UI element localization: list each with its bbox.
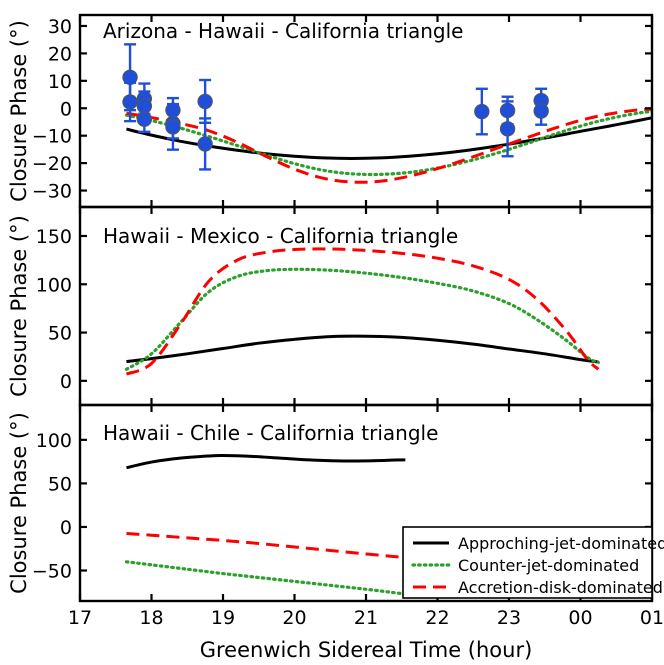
x-tick-label: 17 bbox=[68, 607, 92, 629]
y-tick-label: −50 bbox=[32, 561, 72, 583]
panel-title-2: Hawaii - Mexico - California triangle bbox=[103, 224, 458, 248]
x-tick-label: 01 bbox=[640, 607, 664, 629]
y-tick-label: 0 bbox=[60, 517, 72, 539]
y-tick-label: −20 bbox=[32, 153, 72, 175]
y-tick-label: −30 bbox=[32, 181, 72, 203]
legend-label: Accretion-disk-dominated bbox=[458, 578, 663, 597]
x-tick-label: 23 bbox=[497, 607, 521, 629]
x-tick-label: 20 bbox=[282, 607, 306, 629]
x-tick-label: 00 bbox=[568, 607, 592, 629]
y-axis-title-panel-3: Closure Phase (°) bbox=[7, 412, 31, 594]
figure-canvas: Closure Phase (°) Closure Phase (°) Clos… bbox=[0, 0, 664, 665]
x-tick-label: 18 bbox=[139, 607, 163, 629]
y-tick-label: 100 bbox=[36, 430, 72, 452]
x-axis-title: Greenwich Sidereal Time (hour) bbox=[200, 638, 533, 662]
panel-title-1: Arizona - Hawaii - California triangle bbox=[103, 19, 463, 43]
closure-phase-figure: Closure Phase (°) Closure Phase (°) Clos… bbox=[0, 0, 664, 665]
y-tick-label: 50 bbox=[48, 323, 72, 345]
y-tick-label: 30 bbox=[48, 16, 72, 38]
y-tick-label: −10 bbox=[32, 126, 72, 148]
y-tick-label: 100 bbox=[36, 274, 72, 296]
y-tick-label: 0 bbox=[60, 98, 72, 120]
y-tick-label: 150 bbox=[36, 226, 72, 248]
y-tick-label: 50 bbox=[48, 473, 72, 495]
x-tick-label: 21 bbox=[354, 607, 378, 629]
legend-label: Approching-jet-dominated bbox=[458, 534, 664, 553]
y-axis-title-panel-1: Closure Phase (°) bbox=[7, 20, 31, 202]
y-tick-label: 0 bbox=[60, 371, 72, 393]
y-tick-label: 10 bbox=[48, 71, 72, 93]
x-tick-label: 19 bbox=[211, 607, 235, 629]
x-tick-label: 22 bbox=[425, 607, 449, 629]
y-tick-label: 20 bbox=[48, 43, 72, 65]
legend-label: Counter-jet-dominated bbox=[458, 556, 639, 575]
panel-title-3: Hawaii - Chile - California triangle bbox=[103, 421, 438, 445]
y-axis-title-panel-2: Closure Phase (°) bbox=[7, 215, 31, 397]
